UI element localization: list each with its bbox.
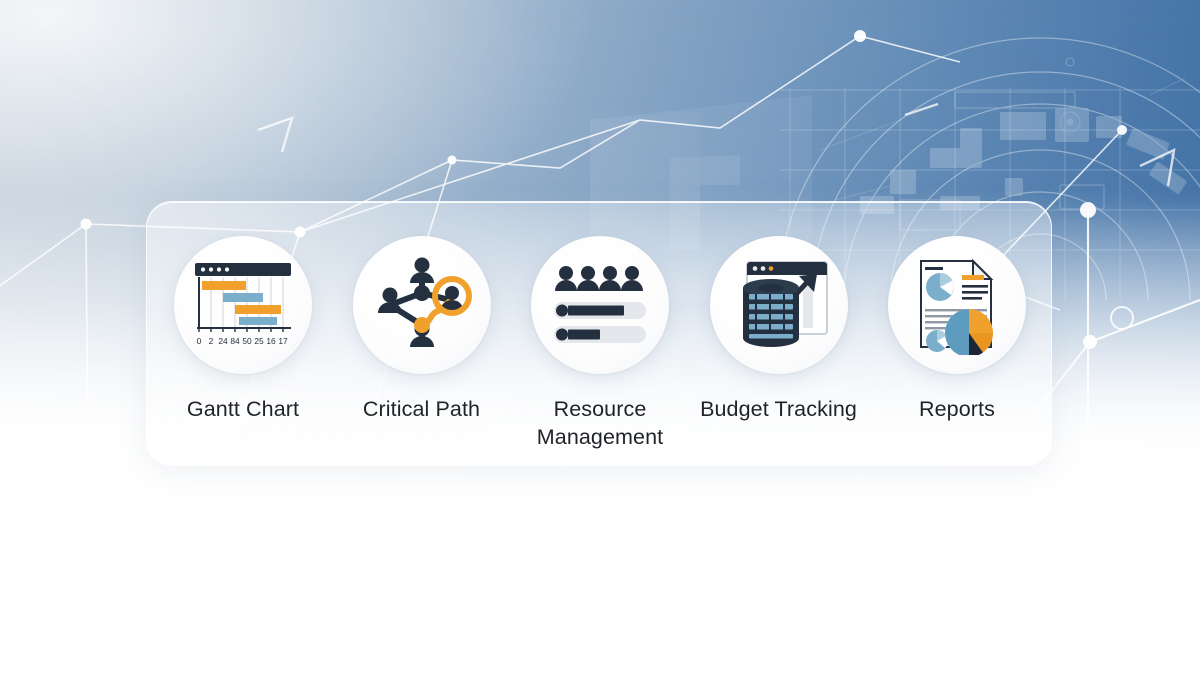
- coin-stack: [743, 279, 799, 347]
- gantt-axis-labels: 0 2 24 84 50 25 16 17: [197, 336, 288, 346]
- feature-item-gantt-chart[interactable]: 0 2 24 84 50 25 16 17 Gantt Chart: [160, 236, 326, 424]
- feature-item-critical-path[interactable]: Critical Path: [339, 236, 505, 424]
- reports-icon: [907, 255, 1007, 355]
- svg-text:24: 24: [218, 336, 228, 346]
- critical-path-tile[interactable]: [353, 236, 491, 374]
- gantt-bar-1: [202, 281, 246, 290]
- budget-tracking-icon: [727, 256, 831, 354]
- feature-item-resource-management[interactable]: Resource Management: [517, 236, 683, 451]
- svg-text:50: 50: [242, 336, 252, 346]
- budget-window-dots: [752, 266, 773, 271]
- gantt-bar-4: [239, 317, 277, 325]
- report-pie-small-top: [926, 273, 954, 301]
- svg-text:17: 17: [278, 336, 288, 346]
- critical-path-node-center: [414, 285, 430, 301]
- budget-tracking-tile[interactable]: [710, 236, 848, 374]
- svg-text:0: 0: [197, 336, 202, 346]
- critical-path-node-active: [414, 317, 430, 333]
- feature-label-budget-tracking: Budget Tracking: [700, 396, 857, 424]
- gantt-bar-2: [223, 293, 263, 302]
- feature-item-reports[interactable]: Reports: [874, 236, 1040, 424]
- critical-path-node-top: [410, 258, 434, 284]
- feature-row: 0 2 24 84 50 25 16 17 Gantt Chart: [160, 236, 1040, 456]
- report-pie-small-bottom: [926, 330, 948, 352]
- feature-label-critical-path: Critical Path: [363, 396, 480, 424]
- resource-allocation-bar-2: [554, 326, 646, 343]
- feature-label-resource-management: Resource Management: [537, 396, 664, 451]
- gantt-bar-3: [235, 305, 281, 314]
- svg-text:84: 84: [230, 336, 240, 346]
- resource-management-icon: [550, 262, 650, 348]
- resource-management-tile[interactable]: [531, 236, 669, 374]
- feature-label-reports: Reports: [919, 396, 995, 424]
- critical-path-icon: [370, 253, 474, 357]
- resource-allocation-bar-1: [554, 302, 646, 319]
- feature-label-gantt-chart: Gantt Chart: [187, 396, 299, 424]
- resource-people: [555, 266, 643, 291]
- feature-item-budget-tracking[interactable]: Budget Tracking: [696, 236, 862, 424]
- svg-text:2: 2: [209, 336, 214, 346]
- svg-text:16: 16: [266, 336, 276, 346]
- screenshot-stage: 0 2 24 84 50 25 16 17 Gantt Chart: [0, 0, 1200, 675]
- gantt-chart-tile[interactable]: 0 2 24 84 50 25 16 17: [174, 236, 312, 374]
- report-pie-large: [945, 309, 993, 355]
- gantt-chart-icon: 0 2 24 84 50 25 16 17: [189, 257, 297, 353]
- reports-tile[interactable]: [888, 236, 1026, 374]
- svg-text:25: 25: [254, 336, 264, 346]
